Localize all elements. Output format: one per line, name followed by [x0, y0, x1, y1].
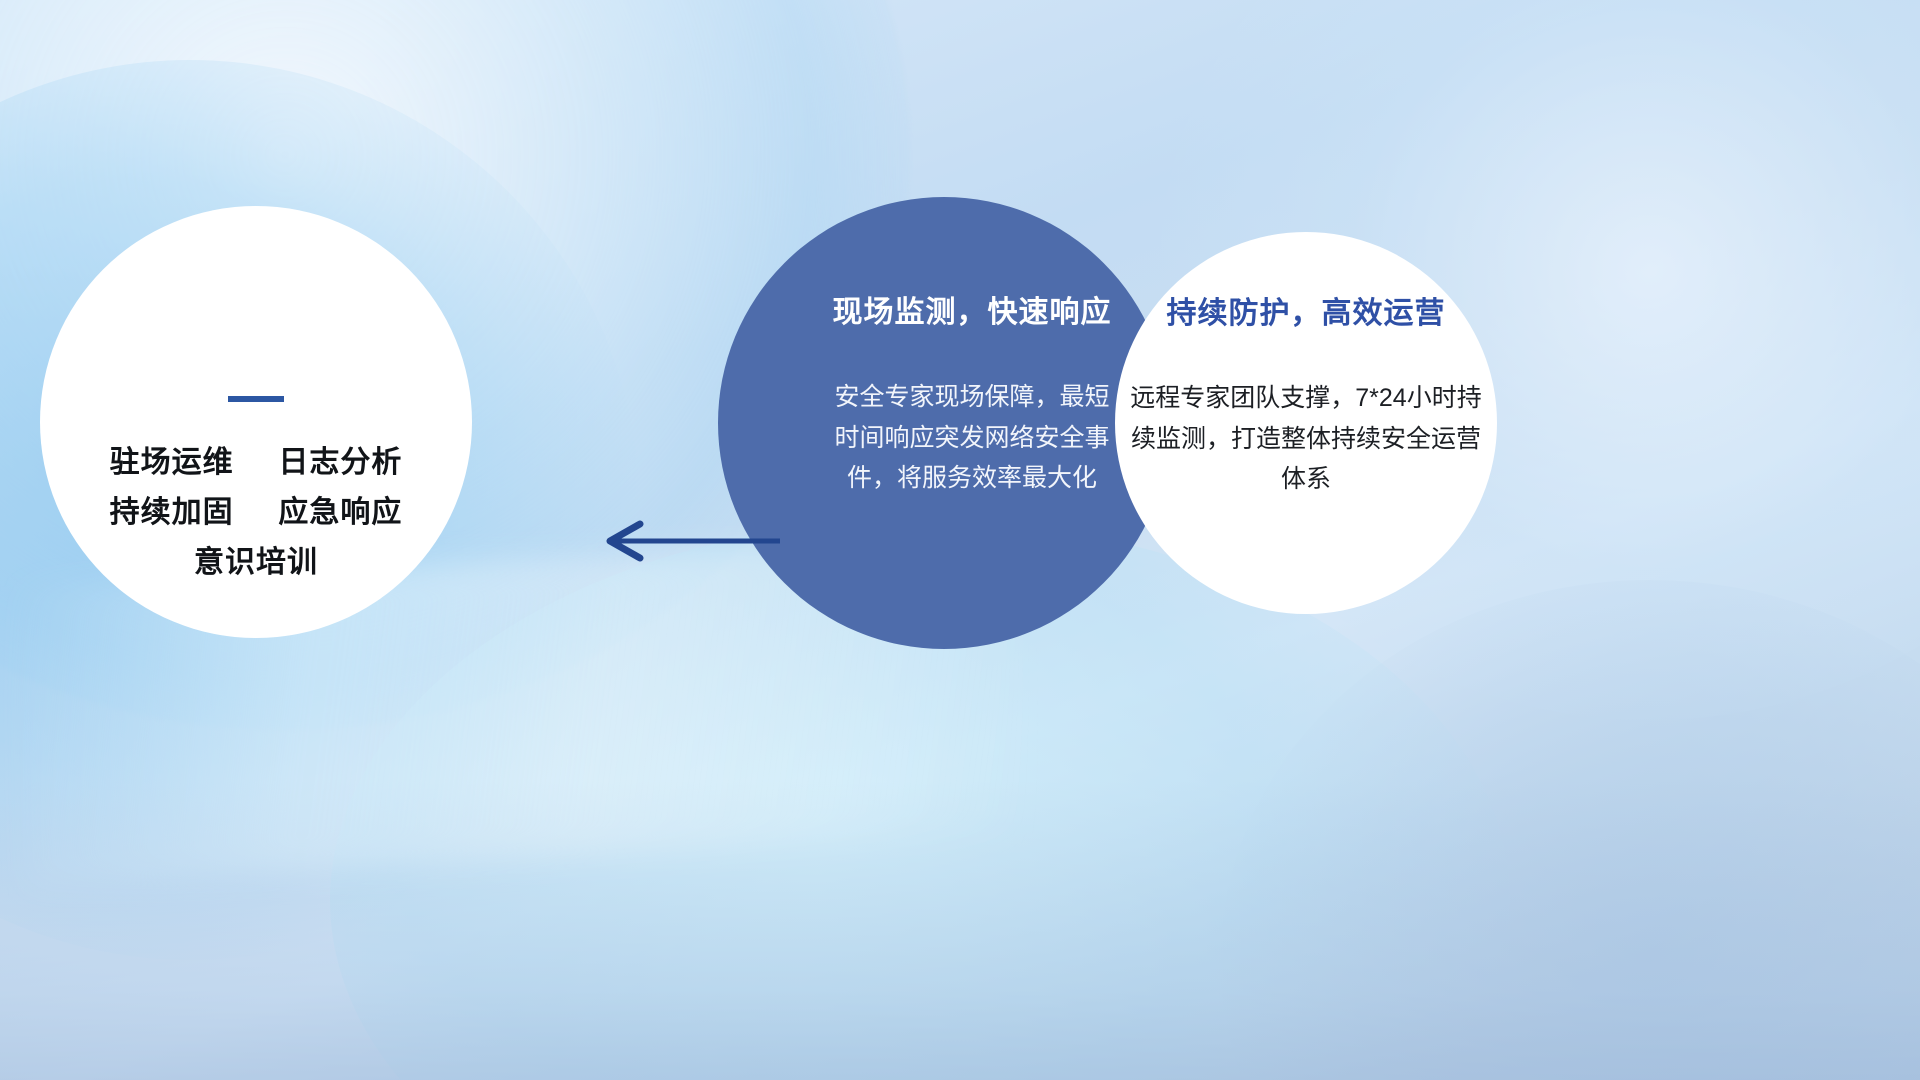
keyword-label: 应急响应 [278, 496, 402, 529]
slide-canvas: 驻场运维 日志分析 持续加固 应急响应 意识培训 现场监测，快速响应 安全专家现… [0, 0, 1920, 1080]
middle-circle-title: 现场监测，快速响应 [833, 287, 1112, 331]
right-circle-card: 持续防护，高效运营 远程专家团队支撑，7*24小时持续监测，打造整体持续安全运营… [1115, 232, 1497, 614]
right-circle-title: 持续防护，高效运营 [1167, 288, 1446, 332]
background-bottom-shade [0, 780, 1920, 1080]
list-item: 持续加固 应急响应 [110, 498, 403, 528]
left-circle-keyword-list: 驻场运维 日志分析 持续加固 应急响应 意识培训 [110, 448, 403, 578]
left-circle-card: 驻场运维 日志分析 持续加固 应急响应 意识培训 [40, 206, 472, 638]
list-item: 意识培训 [194, 548, 318, 578]
arrow-left-icon [600, 520, 780, 562]
keyword-label: 持续加固 [110, 496, 234, 529]
keyword-label: 日志分析 [278, 446, 402, 479]
middle-circle-card: 现场监测，快速响应 安全专家现场保障，最短时间响应突发网络安全事件，将服务效率最… [718, 197, 1170, 649]
keyword-label: 驻场运维 [110, 446, 234, 479]
short-rule-icon [228, 396, 284, 402]
keyword-label: 意识培训 [194, 546, 318, 579]
list-item: 驻场运维 日志分析 [110, 448, 403, 478]
middle-circle-body: 安全专家现场保障，最短时间响应突发网络安全事件，将服务效率最大化 [832, 377, 1112, 499]
right-circle-body: 远程专家团队支撑，7*24小时持续监测，打造整体持续安全运营体系 [1130, 378, 1482, 500]
